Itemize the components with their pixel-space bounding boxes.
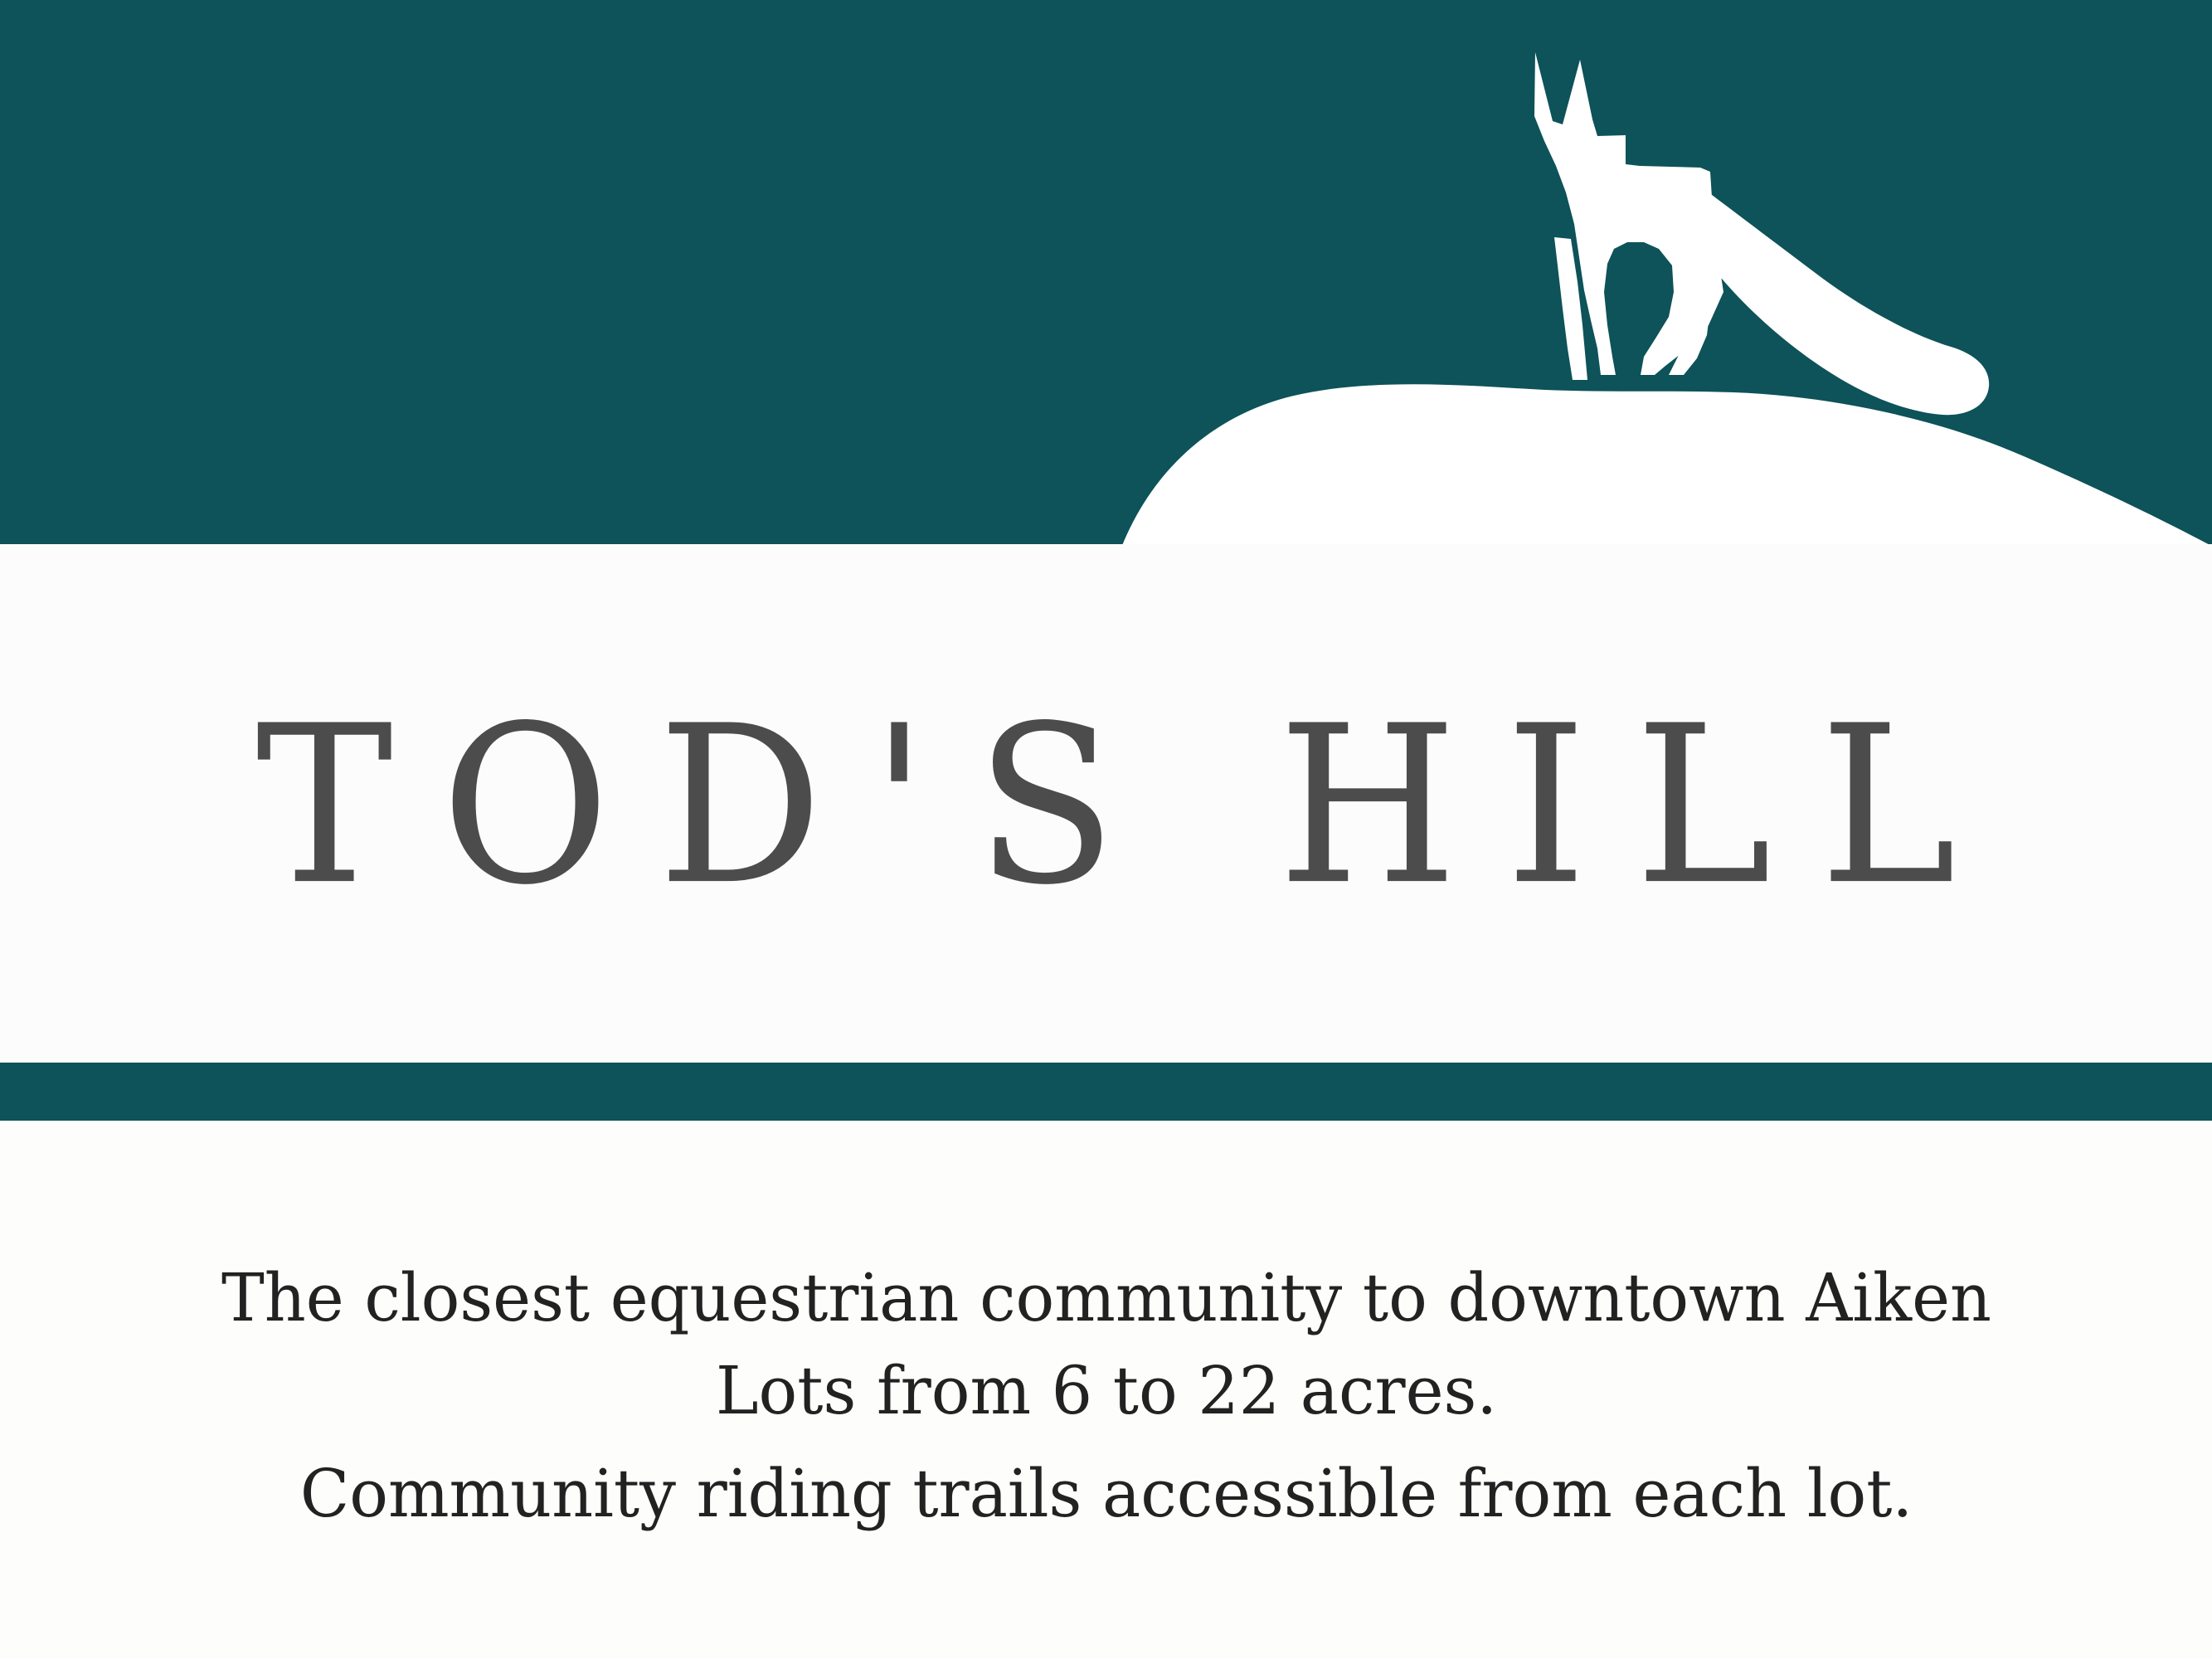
tagline-block: The closest equestrian community to down…: [111, 1252, 2102, 1540]
wordmark-section: TOD'S HILL: [0, 544, 2212, 1063]
tagline-line-1: The closest equestrian community to down…: [141, 1252, 2072, 1345]
wordmark: TOD'S HILL: [0, 544, 2212, 1063]
tagline-line-3: Community riding trails accessible from …: [141, 1447, 2072, 1540]
teal-rule: [0, 1063, 2212, 1121]
page-title: TOD'S HILL: [207, 697, 2004, 915]
tods-hill-banner: TOD'S HILL The closest equestrian commun…: [0, 0, 2212, 1659]
header-band: [0, 0, 2212, 544]
tagline-line-2: Lots from 6 to 22 acres.: [141, 1345, 2072, 1438]
tagline-section: The closest equestrian community to down…: [0, 1121, 2212, 1659]
hill-and-fox-artwork: [0, 0, 2212, 544]
